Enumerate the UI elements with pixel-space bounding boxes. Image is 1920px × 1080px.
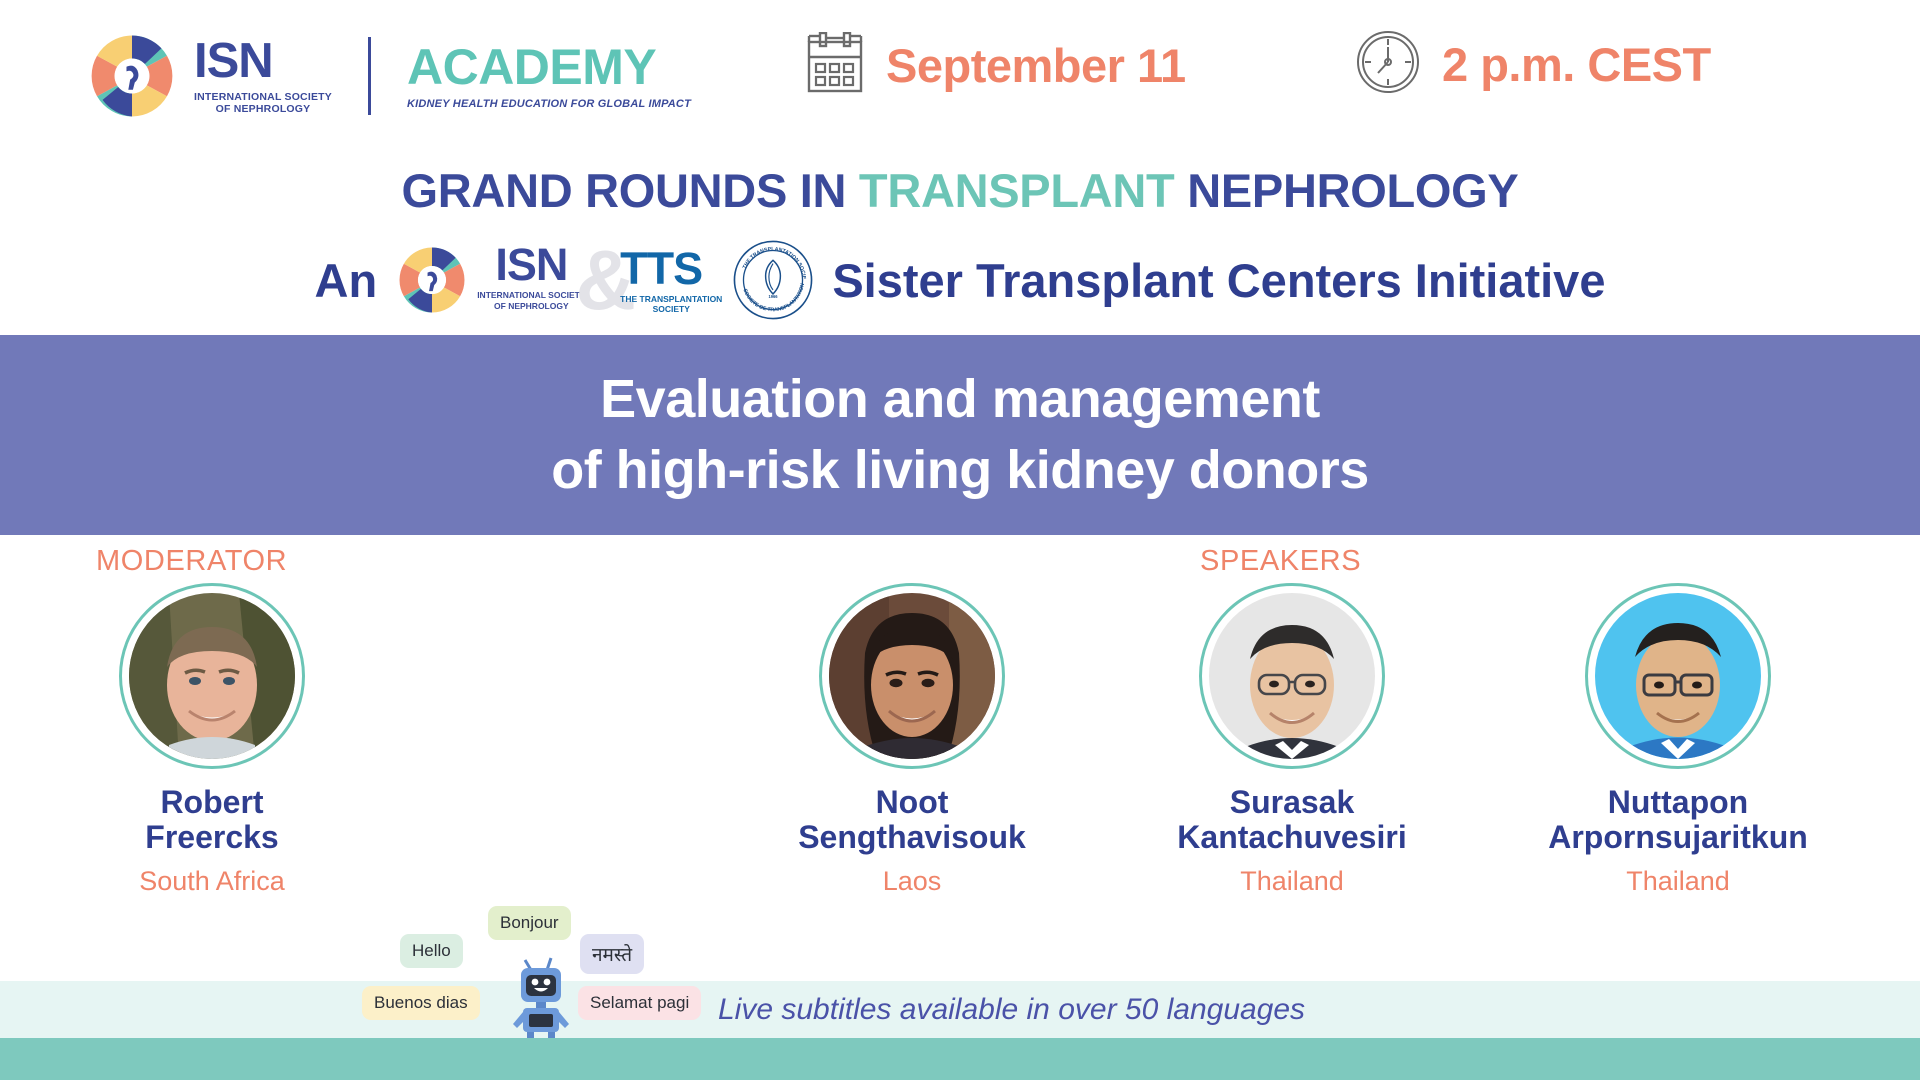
avatar: [1585, 583, 1771, 769]
speech-bubble-buenos-dias: Buenos dias: [362, 986, 480, 1020]
isn-subtitle-line2: OF NEPHROLOGY: [194, 103, 332, 115]
person-name-line1: Robert: [62, 785, 362, 820]
event-date: September 11: [806, 32, 1186, 99]
person-country: Thailand: [1528, 866, 1828, 897]
event-date-text: September 11: [886, 38, 1186, 93]
event-time: 2 p.m. CEST: [1356, 30, 1711, 99]
header: ISN INTERNATIONAL SOCIETY OF NEPHROLOGY …: [0, 0, 1920, 152]
speakers-label: SPEAKERS: [1200, 545, 1361, 578]
tts-name: TTS: [620, 247, 702, 291]
tts-subtitle-line2: SOCIETY: [620, 304, 722, 314]
tts-subtitle-line1: THE TRANSPLANTATION: [620, 294, 722, 304]
people-section: MODERATOR SPEAKERS: [0, 535, 1920, 865]
title-block: GRAND ROUNDS IN TRANSPLANT NEPHROLOGY An: [0, 152, 1920, 321]
session-title-line1: Evaluation and management: [600, 364, 1320, 435]
avatar: [1199, 583, 1385, 769]
subtitles-text: Live subtitles available in over 50 lang…: [718, 993, 1305, 1027]
person-card: Nuttapon Arpornsujaritkun Thailand: [1528, 583, 1828, 897]
bottom-teal-bar: [0, 1038, 1920, 1080]
clock-icon: [1356, 30, 1420, 99]
moderator-label: MODERATOR: [96, 545, 287, 578]
academy-wordmark: ACADEMY KIDNEY HEALTH EDUCATION FOR GLOB…: [407, 42, 691, 110]
academy-tagline: KIDNEY HEALTH EDUCATION FOR GLOBAL IMPAC…: [407, 98, 691, 110]
event-time-text: 2 p.m. CEST: [1442, 37, 1711, 92]
isn-circle-logo-icon: [395, 243, 469, 317]
avatar-photo: [129, 593, 295, 759]
subtitles-bar: Live subtitles available in over 50 lang…: [0, 981, 1920, 1038]
title-part2: NEPHROLOGY: [1174, 164, 1518, 217]
inline-isn-subtitle-line1: INTERNATIONAL SOCIETY: [477, 290, 585, 300]
isn-wordmark: ISN INTERNATIONAL SOCIETY OF NEPHROLOGY: [194, 37, 332, 116]
inline-isn-wordmark: ISN INTERNATIONAL SOCIETY OF NEPHROLOGY: [477, 243, 585, 310]
isn-academy-logo: ISN INTERNATIONAL SOCIETY OF NEPHROLOGY …: [86, 30, 691, 122]
title-part1: GRAND ROUNDS IN: [402, 164, 859, 217]
calendar-icon: [806, 32, 864, 99]
isn-subtitle: INTERNATIONAL SOCIETY OF NEPHROLOGY: [194, 91, 332, 116]
person-name-line2: Arpornsujaritkun: [1528, 820, 1828, 855]
person-name-line1: Noot: [762, 785, 1062, 820]
avatar-photo: [829, 593, 995, 759]
avatar: [119, 583, 305, 769]
isn-circle-logo-icon: [86, 30, 178, 122]
speech-bubble-hello: Hello: [400, 934, 463, 968]
person-name-line1: Surasak: [1142, 785, 1442, 820]
inline-isn-subtitle: INTERNATIONAL SOCIETY OF NEPHROLOGY: [477, 290, 585, 310]
speech-bubble-namaste: नमस्ते: [580, 934, 644, 974]
session-title-line2: of high-risk living kidney donors: [551, 435, 1369, 506]
person-name-line1: Nuttapon: [1528, 785, 1828, 820]
speech-bubble-bonjour: Bonjour: [488, 906, 571, 940]
avatar-photo: [1209, 593, 1375, 759]
title-highlight: TRANSPLANT: [859, 164, 1175, 217]
isn-subtitle-line1: INTERNATIONAL SOCIETY: [194, 91, 332, 103]
avatar-photo: [1595, 593, 1761, 759]
translation-robot-graphic: Hello Bonjour नमस्ते Buenos dias Selamat…: [400, 908, 720, 1038]
person-card: Surasak Kantachuvesiri Thailand: [1142, 583, 1442, 897]
tts-seal-icon: THE TRANSPLANTATION SOCIETY SOCIETE DE T…: [732, 239, 814, 321]
inline-tts-wordmark: TTS THE TRANSPLANTATION SOCIETY: [620, 247, 722, 314]
event-title-line1: GRAND ROUNDS IN TRANSPLANT NEPHROLOGY: [0, 166, 1920, 215]
person-name: Nuttapon Arpornsujaritkun: [1528, 785, 1828, 854]
person-name-line2: Kantachuvesiri: [1142, 820, 1442, 855]
person-card: Robert Freercks South Africa: [62, 583, 362, 897]
person-country: South Africa: [62, 866, 362, 897]
svg-text:1966: 1966: [769, 294, 779, 299]
subtitle-suffix: Sister Transplant Centers Initiative: [832, 253, 1605, 308]
person-country: Thailand: [1142, 866, 1442, 897]
subtitle-prefix: An: [315, 253, 378, 308]
speech-bubble-selamat-pagi: Selamat pagi: [578, 986, 701, 1020]
inline-isn-subtitle-line2: OF NEPHROLOGY: [477, 301, 585, 311]
person-name-line2: Sengthavisouk: [762, 820, 1062, 855]
person-card: Noot Sengthavisouk Laos: [762, 583, 1062, 897]
person-name: Noot Sengthavisouk: [762, 785, 1062, 854]
inline-isn-name: ISN: [477, 243, 585, 287]
tts-subtitle: THE TRANSPLANTATION SOCIETY: [620, 294, 722, 314]
event-subtitle-line: An ISN INTERNATION: [0, 239, 1920, 321]
robot-icon: [495, 946, 587, 1043]
person-name: Robert Freercks: [62, 785, 362, 854]
academy-name: ACADEMY: [407, 42, 691, 92]
inline-isn-logo: ISN INTERNATIONAL SOCIETY OF NEPHROLOGY: [395, 243, 585, 317]
session-title-banner: Evaluation and management of high-risk l…: [0, 335, 1920, 535]
isn-name: ISN: [194, 37, 332, 86]
avatar: [819, 583, 1005, 769]
person-country: Laos: [762, 866, 1062, 897]
logo-divider: [368, 37, 371, 115]
person-name-line2: Freercks: [62, 820, 362, 855]
person-name: Surasak Kantachuvesiri: [1142, 785, 1442, 854]
